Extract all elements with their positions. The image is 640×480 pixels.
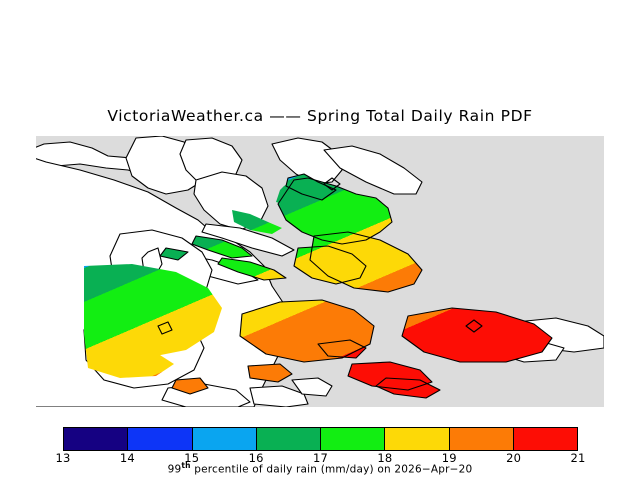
colorbar-band-1 (128, 428, 192, 450)
colorbar-band-7 (514, 428, 577, 450)
colorbar-band-4 (321, 428, 385, 450)
screenshot-root: VictoriaWeather.ca —— Spring Total Daily… (0, 0, 640, 480)
caption-superscript: th (181, 461, 190, 470)
colorbar-band-2 (193, 428, 257, 450)
page-title: VictoriaWeather.ca —— Spring Total Daily… (0, 107, 640, 125)
colorbar-band-5 (385, 428, 449, 450)
caption-suffix: percentile of daily rain (mm/day) on 202… (191, 464, 473, 476)
colorbar-caption: 99th percentile of daily rain (mm/day) o… (0, 461, 640, 476)
colorbar-bands (63, 427, 578, 451)
colorbar-band-3 (257, 428, 321, 450)
colorbar[interactable] (63, 427, 578, 451)
colorbar-band-6 (450, 428, 514, 450)
colorbar-band-0 (64, 428, 128, 450)
map-svg (36, 136, 604, 407)
map-panel[interactable] (36, 136, 604, 407)
caption-prefix: 99 (168, 464, 182, 476)
